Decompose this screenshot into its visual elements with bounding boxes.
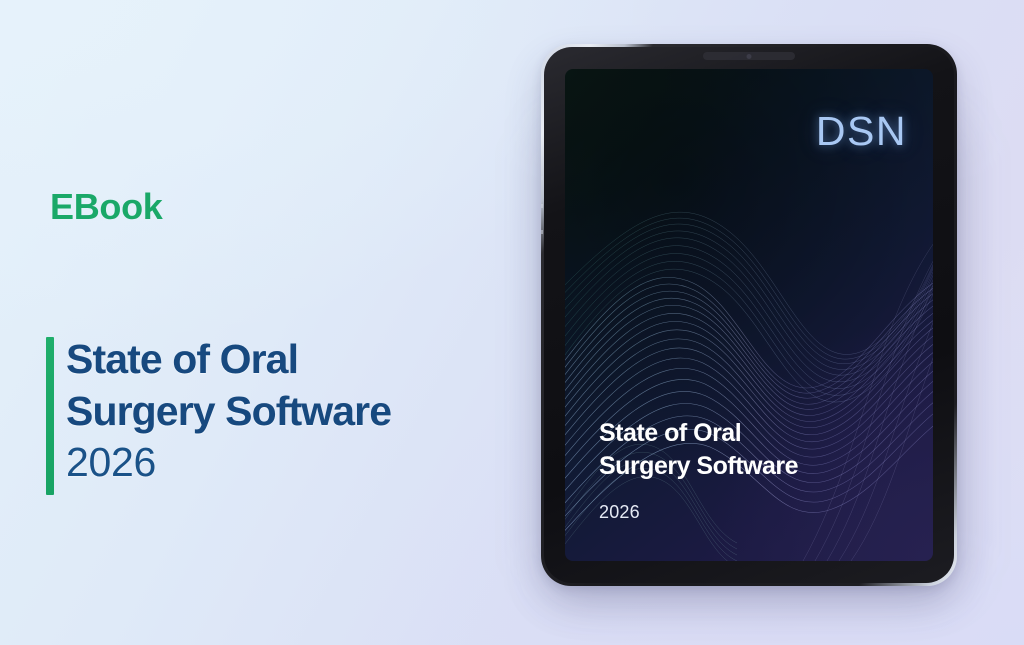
tablet-device: DSN State of Oral Surgery Software 2026 <box>541 44 957 586</box>
left-text-panel: EBook State of Oral Surgery Software 202… <box>0 0 500 645</box>
cover-year: 2026 <box>599 503 640 521</box>
tablet-screen: DSN State of Oral Surgery Software 2026 <box>565 69 933 561</box>
headline-group: State of Oral Surgery Software 2026 <box>66 334 486 488</box>
ebook-promo-poster: EBook State of Oral Surgery Software 202… <box>0 0 1024 645</box>
dsn-logo: DSN <box>816 111 907 152</box>
tablet-side-button-3 <box>541 230 543 234</box>
cover-title-line-1: State of Oral <box>599 417 899 450</box>
page-title: State of Oral Surgery Software <box>66 334 486 437</box>
cover-title: State of Oral Surgery Software <box>599 417 899 483</box>
camera-icon <box>747 54 752 59</box>
tablet-side-button-1 <box>541 176 543 180</box>
cover-title-line-2: Surgery Software <box>599 450 899 483</box>
green-accent-bar <box>46 337 54 495</box>
page-title-line-1: State of Oral <box>66 334 486 386</box>
page-title-line-2: Surgery Software <box>66 386 486 438</box>
tablet-side-button-2 <box>541 204 543 208</box>
eyebrow-label: EBook <box>50 189 163 225</box>
page-title-year: 2026 <box>66 438 486 487</box>
